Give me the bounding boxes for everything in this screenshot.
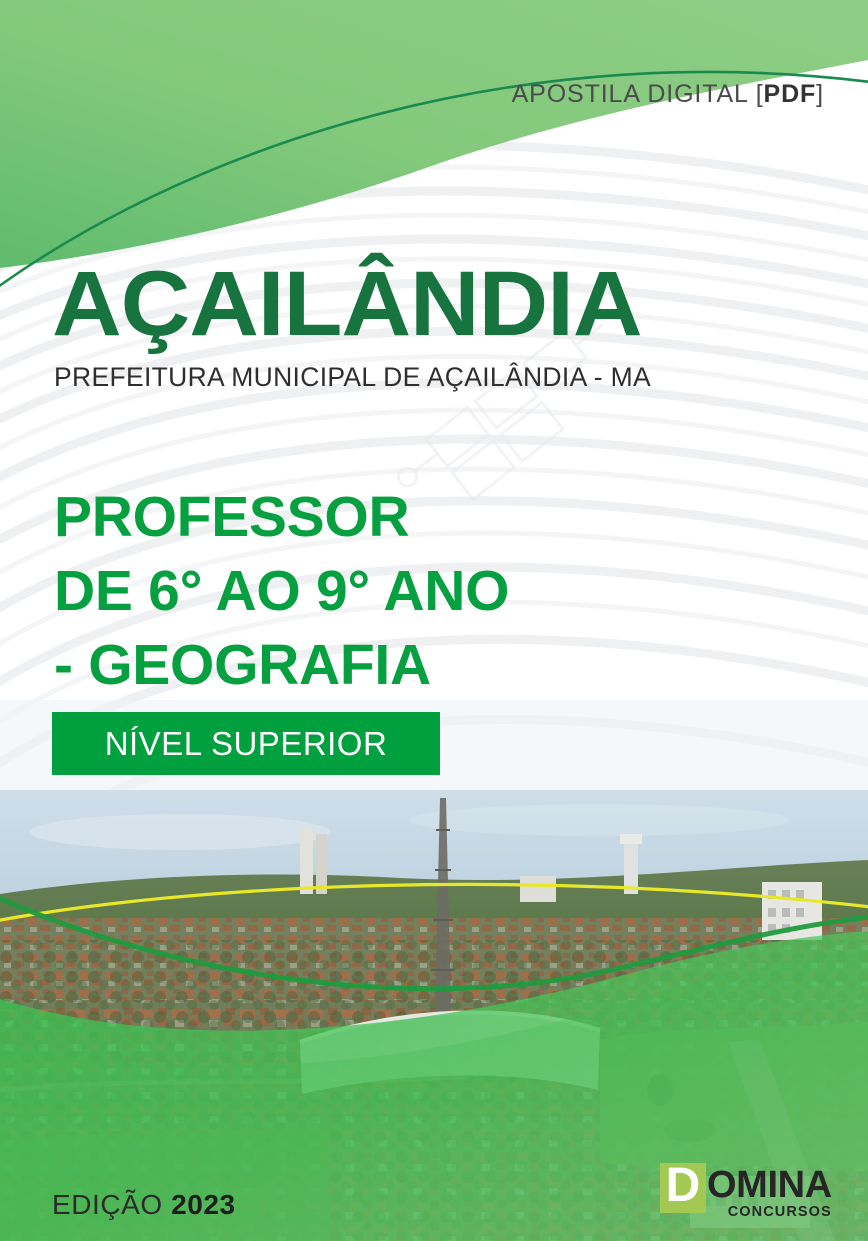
logo-letter-tile: D: [660, 1163, 706, 1213]
format-label-text: APOSTILA DIGITAL [: [512, 80, 764, 108]
format-label: APOSTILA DIGITAL [PDF]: [512, 80, 824, 109]
edition-year: 2023: [171, 1189, 236, 1220]
page-title: AÇAILÂNDIA: [52, 258, 641, 350]
format-label-end: ]: [816, 80, 824, 108]
status-badge: NÍVEL SUPERIOR: [52, 712, 440, 775]
format-type-text: PDF: [764, 80, 817, 108]
level-badge-label: NÍVEL SUPERIOR: [105, 725, 388, 763]
logo-wordmark: OMINA: [707, 1163, 832, 1207]
logo-tagline: CONCURSOS: [728, 1204, 832, 1220]
apostila-cover: APOSTILA DIGITAL [PDF] AÇAILÂNDIA PREFEI…: [0, 0, 868, 1241]
edition-label: EDIÇÃO 2023: [52, 1189, 236, 1221]
role-line-2: DE 6° AO 9° ANO: [54, 554, 694, 628]
role-line-1: PROFESSOR: [54, 480, 694, 554]
organization-subtitle: PREFEITURA MUNICIPAL DE AÇAILÂNDIA - MA: [54, 364, 651, 391]
role-title: PROFESSOR DE 6° AO 9° ANO - GEOGRAFIA: [54, 480, 694, 702]
edition-text: EDIÇÃO: [52, 1189, 163, 1220]
role-line-3: - GEOGRAFIA: [54, 628, 694, 702]
logo-letter: D: [666, 1162, 701, 1210]
domina-concursos-logo: D OMINA CONCURSOS: [660, 1163, 846, 1229]
